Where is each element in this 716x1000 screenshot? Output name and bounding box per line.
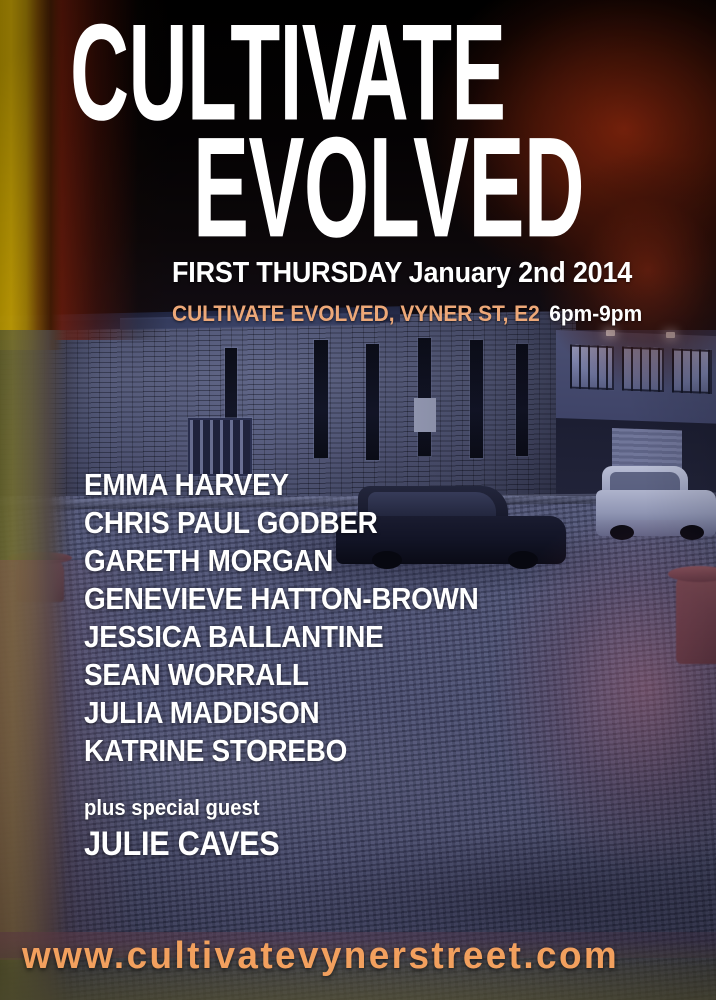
event-time: 6pm-9pm [549,301,642,326]
special-guest-name: JULIE CAVES [84,825,279,864]
list-item: EMMA HARVEY [84,466,624,504]
event-date-lead: FIRST THURSDAY [172,257,402,289]
event-poster: CULTIVATE EVOLVED FIRST THURSDAYJanuary … [0,0,716,1000]
special-guest-label: plus special guest [84,795,259,821]
poster-content: CULTIVATE EVOLVED FIRST THURSDAYJanuary … [0,0,716,1000]
website-url[interactable]: www.cultivatevynerstreet.com [22,935,619,978]
list-item: SEAN WORRALL [84,656,624,694]
list-item: KATRINE STOREBO [84,732,624,770]
list-item: JESSICA BALLANTINE [84,618,624,656]
list-item: JULIA MADDISON [84,694,624,732]
list-item: GENEVIEVE HATTON-BROWN [84,580,624,618]
event-venue-address: CULTIVATE EVOLVED, VYNER ST, E2 [172,301,540,326]
artist-list: EMMA HARVEY CHRIS PAUL GODBER GARETH MOR… [84,466,684,770]
event-venue-line: CULTIVATE EVOLVED, VYNER ST, E26pm-9pm [172,301,642,327]
event-date-value: January 2nd 2014 [409,257,632,289]
title-line-evolved: EVOLVED [193,116,584,259]
event-date-line: FIRST THURSDAYJanuary 2nd 2014 [172,257,632,290]
list-item: GARETH MORGAN [84,542,624,580]
list-item: CHRIS PAUL GODBER [84,504,624,542]
